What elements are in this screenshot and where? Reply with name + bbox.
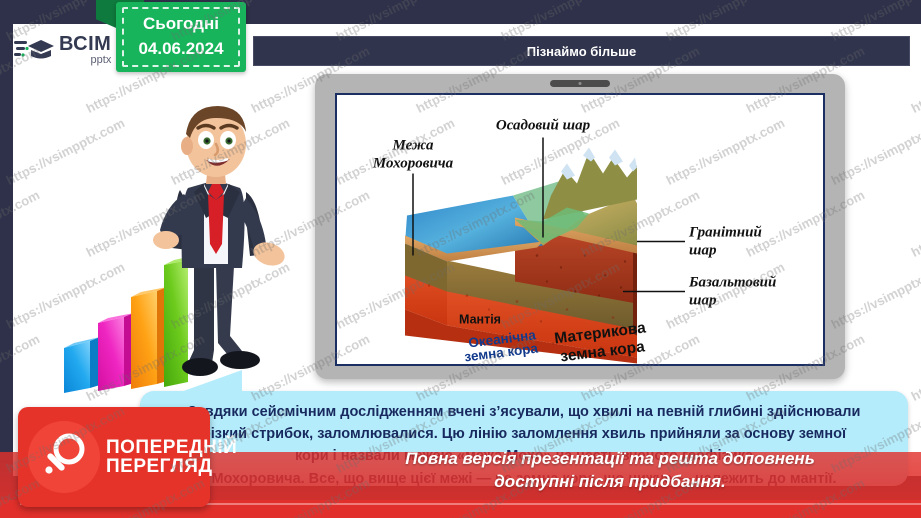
preview-badge[interactable]: ПОПЕРЕДНІЙ ПЕРЕГЛЯД — [18, 407, 210, 507]
label-basalt-2: шар — [689, 293, 717, 309]
slide-canvas: ВСІМ pptx Сьогодні 04.06.2024 Пізнаймо б… — [0, 0, 921, 518]
earth-crust-diagram: Осадовий шар Межа Мохоровича Гранітний ш… — [337, 95, 823, 364]
tablet-camera-dot — [579, 82, 582, 85]
preview-notice: Повна версія презентації та решта доповн… — [330, 448, 890, 494]
callout-line-1: Завдяки сейсмічним дослідженням вчені з’… — [150, 401, 898, 423]
graduation-cap-icon — [14, 34, 54, 66]
slide-title-bar: Пізнаймо більше — [253, 36, 910, 66]
callout-line-2: різкий стрибок, заломлювалися. Цю лінію … — [150, 423, 898, 445]
label-mantle: Мантія — [459, 313, 501, 327]
label-sedimentary: Осадовий шар — [496, 118, 591, 134]
label-moho-1: Межа — [392, 138, 434, 154]
left-navy-strip — [0, 24, 13, 476]
label-granite-2: шар — [689, 243, 717, 259]
search-icon — [28, 421, 100, 493]
label-granite-1: Гранітний — [688, 225, 762, 241]
tablet-device: Осадовий шар Межа Мохоровича Гранітний ш… — [315, 74, 845, 379]
label-basalt-1: Базальтовий — [688, 275, 776, 291]
date-badge-date: 04.06.2024 — [116, 37, 246, 62]
label-moho-2: Мохоровича — [372, 156, 454, 172]
date-badge: Сьогодні 04.06.2024 — [116, 2, 246, 72]
tablet-screen: Осадовий шар Межа Мохоровича Гранітний ш… — [335, 93, 825, 366]
businessman-mascot — [150, 88, 300, 393]
logo-subtitle: pptx — [59, 55, 111, 66]
preview-badge-line-2: ПЕРЕГЛЯД — [106, 457, 237, 476]
preview-badge-line-1: ПОПЕРЕДНІЙ — [106, 438, 237, 457]
preview-notice-line-2: доступні після придбання. — [330, 471, 890, 494]
page-title: Пізнаймо більше — [527, 44, 636, 59]
logo-wordmark: ВСІМ — [59, 34, 111, 54]
preview-notice-line-1: Повна версія презентації та решта доповн… — [330, 448, 890, 471]
date-badge-label: Сьогодні — [116, 12, 246, 37]
